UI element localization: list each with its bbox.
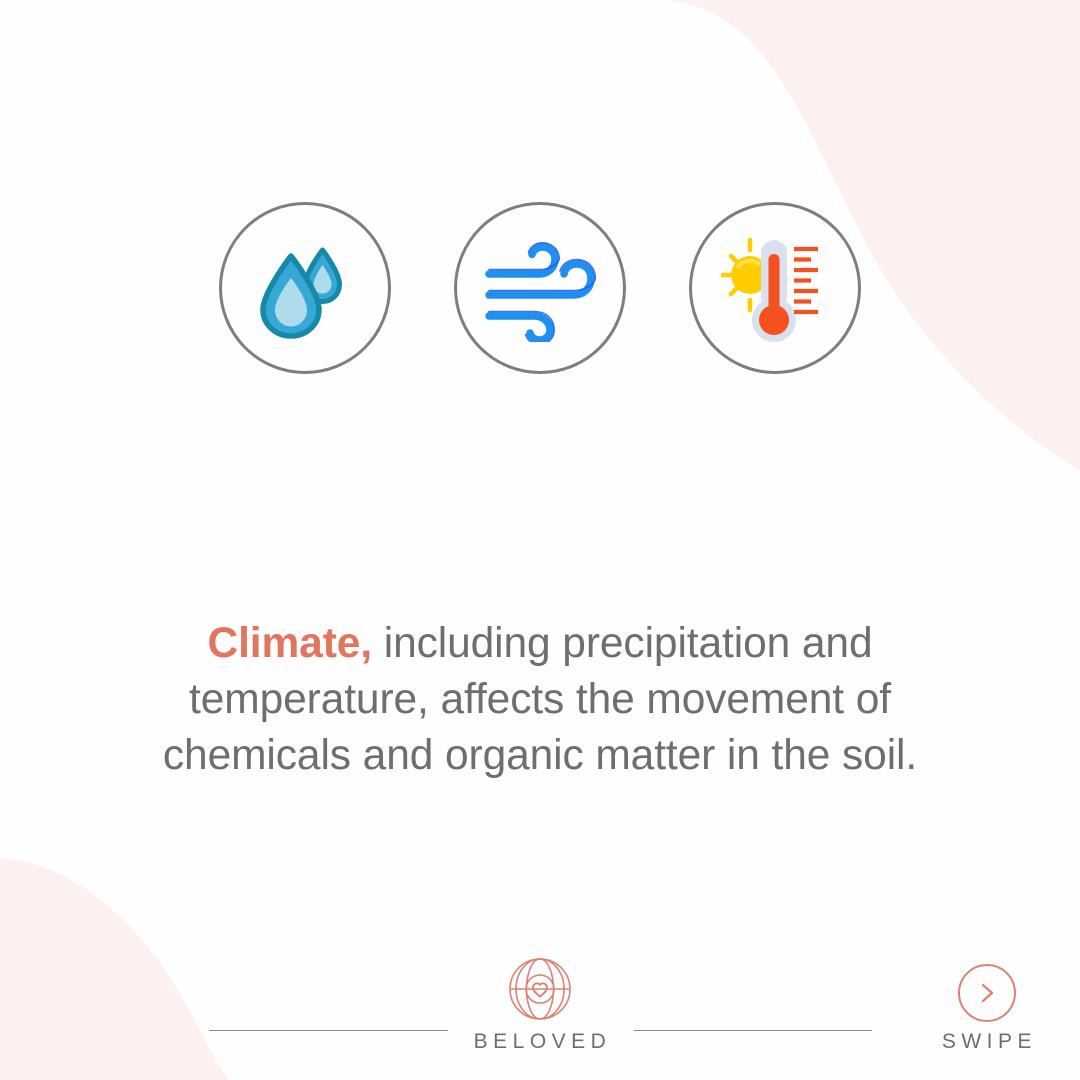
water-droplets-icon — [251, 234, 359, 342]
brand-block: BELOVED — [440, 957, 640, 1054]
footer-bar: BELOVED SWIPE — [0, 930, 1080, 1080]
divider-right — [634, 1030, 872, 1031]
copy-keyword-comma: , — [360, 620, 372, 667]
brand-name: BELOVED — [469, 1030, 612, 1054]
thermometer-sun-icon — [719, 232, 831, 344]
copy-keyword: Climate — [207, 620, 360, 667]
divider-left — [209, 1030, 448, 1031]
chevron-right-icon[interactable] — [958, 964, 1016, 1022]
icon-circle-temperature — [689, 202, 861, 374]
wind-icon — [481, 234, 599, 342]
beloved-globe-heart-logo — [508, 957, 572, 1026]
background-decoration — [0, 0, 1080, 1080]
swipe-label: SWIPE — [937, 1030, 1037, 1054]
slide-canvas: Climate, including precipitation and tem… — [0, 0, 1080, 1080]
icon-circle-precipitation — [219, 202, 391, 374]
climate-icon-row — [0, 202, 1080, 374]
icon-circle-wind — [454, 202, 626, 374]
body-copy: Climate, including precipitation and tem… — [100, 616, 980, 784]
swipe-button[interactable]: SWIPE — [937, 964, 1037, 1054]
